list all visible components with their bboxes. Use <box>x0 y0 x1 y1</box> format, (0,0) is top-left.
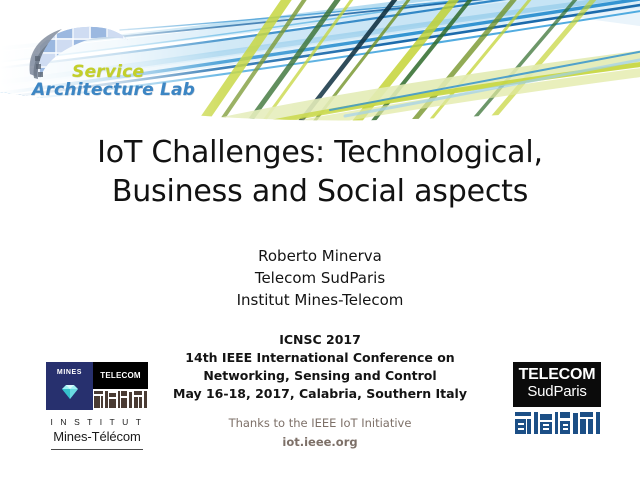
imt-institut-text: I N S T I T U T <box>46 417 148 427</box>
imt-name-text: Mines-Télécom <box>46 429 148 444</box>
service-architecture-lab-logo: Service Architecture Lab <box>18 22 196 102</box>
title-slide: Service Architecture Lab IoT Challenges:… <box>0 0 640 480</box>
imt-telecom-text: TELECOM <box>100 371 141 380</box>
acknowledgement-url[interactable]: iot.ieee.org <box>150 433 490 452</box>
tsp-pattern-strip <box>513 410 601 436</box>
diamond-gem-icon <box>61 384 79 400</box>
sal-wordmark: Service Architecture Lab <box>32 64 196 99</box>
telecom-sudparis-logo: TELECOM SudParis <box>513 362 601 436</box>
sal-architecture-lab-text: Architecture Lab <box>32 82 196 99</box>
acknowledgement-block: Thanks to the IEEE IoT Initiative iot.ie… <box>150 414 490 451</box>
author-affiliation-1: Telecom SudParis <box>140 267 500 289</box>
conference-name-2: Networking, Sensing and Control <box>150 367 490 385</box>
author-block: Roberto Minerva Telecom SudParis Institu… <box>140 245 500 311</box>
imt-mines-box: MINES <box>46 362 93 410</box>
title-line-2: Business and Social aspects <box>40 172 600 211</box>
author-name: Roberto Minerva <box>140 245 500 267</box>
imt-telecom-group: TELECOM <box>93 362 148 410</box>
tsp-box: TELECOM SudParis <box>513 362 601 407</box>
imt-marks: MINES TELECOM <box>46 362 148 410</box>
imt-rule <box>51 449 143 450</box>
author-affiliation-2: Institut Mines-Telecom <box>140 289 500 311</box>
title-line-1: IoT Challenges: Technological, <box>40 133 600 172</box>
conference-date-location: May 16-18, 2017, Calabria, Southern Ital… <box>150 385 490 403</box>
conference-name-1: 14th IEEE International Conference on <box>150 349 490 367</box>
acknowledgement-text: Thanks to the IEEE IoT Initiative <box>150 414 490 433</box>
institut-mines-telecom-logo: MINES TELECOM <box>46 362 148 450</box>
conference-block: ICNSC 2017 14th IEEE International Confe… <box>150 331 490 403</box>
imt-telecom-box: TELECOM <box>93 362 148 389</box>
conference-acronym: ICNSC 2017 <box>150 331 490 349</box>
page-title: IoT Challenges: Technological, Business … <box>40 133 600 211</box>
tsp-telecom-text: TELECOM <box>517 367 597 384</box>
imt-mines-text: MINES <box>46 369 93 376</box>
imt-pattern-strip <box>93 389 148 410</box>
sal-service-text: Service <box>72 64 196 81</box>
tsp-sudparis-text: SudParis <box>517 384 597 400</box>
